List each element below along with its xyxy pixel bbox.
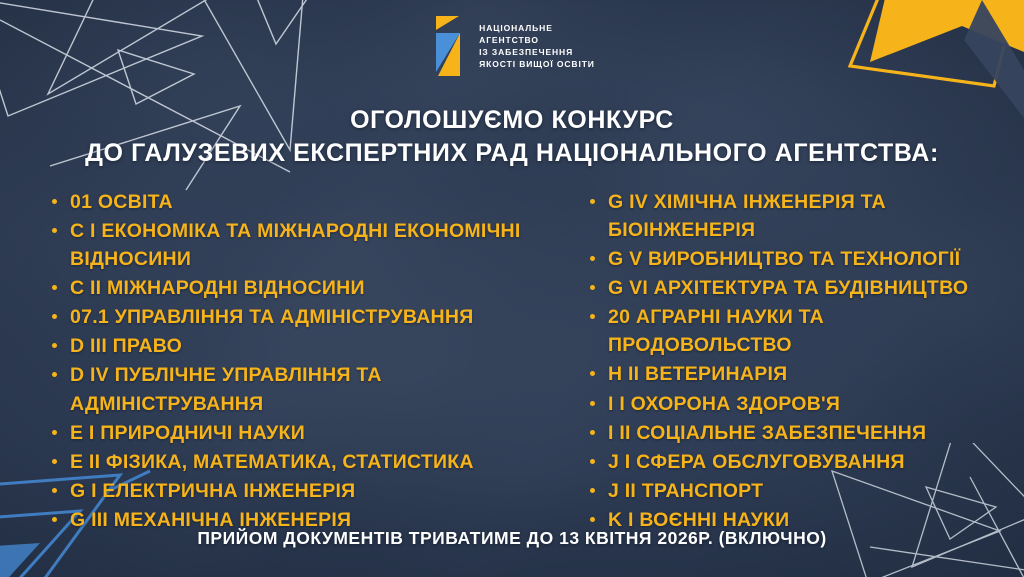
list-item-label: D IV ПУБЛІЧНЕ УПРАВЛІННЯ ТА АДМІНІСТРУВА…	[70, 364, 382, 414]
list-item: E II ФІЗИКА, МАТЕМАТИКА, СТАТИСТИКА	[48, 448, 548, 476]
list-item-label: 20 АГРАРНІ НАУКИ ТА ПРОДОВОЛЬСТВО	[608, 306, 824, 356]
list-item-label: C II МІЖНАРОДНІ ВІДНОСИНИ	[70, 277, 365, 299]
bullet-icon	[590, 371, 595, 376]
headline-line-2: ДО ГАЛУЗЕВИХ ЕКСПЕРТНИХ РАД НАЦІОНАЛЬНОГ…	[0, 137, 1024, 170]
list-item-label: G VI АРХІТЕКТУРА ТА БУДІВНИЦТВО	[608, 277, 968, 299]
list-item: I I ОХОРОНА ЗДОРОВ'Я	[586, 390, 1002, 418]
list-item: D III ПРАВО	[48, 332, 548, 360]
national-agency-logo-mark-icon	[429, 14, 469, 78]
list-item: E I ПРИРОДНИЧІ НАУКИ	[48, 419, 548, 447]
list-item: J I СФЕРА ОБСЛУГОВУВАННЯ	[586, 448, 1002, 476]
list-item-label: J II ТРАНСПОРТ	[608, 480, 763, 502]
bullet-icon	[590, 256, 595, 261]
bullet-icon	[52, 285, 57, 290]
logo-text-line-2: АГЕНТСТВО	[479, 35, 595, 45]
list-item-label: G IV ХІМІЧНА ІНЖЕНЕРІЯ ТА БІОІНЖЕНЕРІЯ	[608, 191, 886, 241]
list-item: G VI АРХІТЕКТУРА ТА БУДІВНИЦТВО	[586, 274, 1002, 302]
list-item-label: G I ЕЛЕКТРИЧНА ІНЖЕНЕРІЯ	[70, 480, 355, 502]
logo-text-block: НАЦІОНАЛЬНЕ АГЕНТСТВО ІЗ ЗАБЕЗПЕЧЕННЯ ЯК…	[479, 23, 595, 69]
list-item: 20 АГРАРНІ НАУКИ ТА ПРОДОВОЛЬСТВО	[586, 303, 1002, 359]
logo-text-line-1: НАЦІОНАЛЬНЕ	[479, 23, 595, 33]
bullet-icon	[52, 488, 57, 493]
bullet-icon	[590, 285, 595, 290]
logo-text-line-4: ЯКОСТІ ВИЩОЇ ОСВІТИ	[479, 59, 595, 69]
council-list-left: 01 ОСВІТА C I ЕКОНОМІКА ТА МІЖНАРОДНІ ЕК…	[48, 188, 548, 534]
council-column-left: 01 ОСВІТА C I ЕКОНОМІКА ТА МІЖНАРОДНІ ЕК…	[48, 188, 548, 535]
list-item-label: 01 ОСВІТА	[70, 191, 173, 213]
bullet-icon	[590, 199, 595, 204]
deadline-text: ПРИЙОМ ДОКУМЕНТІВ ТРИВАТИМЕ ДО 13 КВІТНЯ…	[197, 528, 826, 549]
bullet-icon	[52, 430, 57, 435]
bullet-icon	[52, 314, 57, 319]
list-item: 07.1 УПРАВЛІННЯ ТА АДМІНІСТРУВАННЯ	[48, 303, 548, 331]
list-item: I II СОЦІАЛЬНЕ ЗАБЕЗПЕЧЕННЯ	[586, 419, 1002, 447]
list-item-label: C I ЕКОНОМІКА ТА МІЖНАРОДНІ ЕКОНОМІЧНІ В…	[70, 220, 521, 270]
bullet-icon	[52, 372, 57, 377]
bullet-icon	[590, 401, 595, 406]
bullet-icon	[590, 488, 595, 493]
list-item-label: E II ФІЗИКА, МАТЕМАТИКА, СТАТИСТИКА	[70, 451, 474, 473]
list-item-label: H II ВЕТЕРИНАРІЯ	[608, 363, 787, 385]
list-item: G IV ХІМІЧНА ІНЖЕНЕРІЯ ТА БІОІНЖЕНЕРІЯ	[586, 188, 1002, 244]
list-item-label: I II СОЦІАЛЬНЕ ЗАБЕЗПЕЧЕННЯ	[608, 422, 926, 444]
bullet-icon	[52, 228, 57, 233]
list-item: J II ТРАНСПОРТ	[586, 477, 1002, 505]
council-list-right: G IV ХІМІЧНА ІНЖЕНЕРІЯ ТА БІОІНЖЕНЕРІЯ G…	[586, 188, 1002, 534]
list-item-label: I I ОХОРОНА ЗДОРОВ'Я	[608, 393, 840, 415]
list-item: C I ЕКОНОМІКА ТА МІЖНАРОДНІ ЕКОНОМІЧНІ В…	[48, 217, 548, 273]
council-column-right: G IV ХІМІЧНА ІНЖЕНЕРІЯ ТА БІОІНЖЕНЕРІЯ G…	[570, 188, 1002, 535]
list-item-label: E I ПРИРОДНИЧІ НАУКИ	[70, 422, 305, 444]
list-item: G I ЕЛЕКТРИЧНА ІНЖЕНЕРІЯ	[48, 477, 548, 505]
logo: НАЦІОНАЛЬНЕ АГЕНТСТВО ІЗ ЗАБЕЗПЕЧЕННЯ ЯК…	[0, 14, 1024, 78]
headline: ОГОЛОШУЄМО КОНКУРС ДО ГАЛУЗЕВИХ ЕКСПЕРТН…	[0, 104, 1024, 169]
list-item: H II ВЕТЕРИНАРІЯ	[586, 360, 1002, 388]
list-item-label: D III ПРАВО	[70, 335, 182, 357]
bullet-icon	[52, 517, 57, 522]
list-item: D IV ПУБЛІЧНЕ УПРАВЛІННЯ ТА АДМІНІСТРУВА…	[48, 361, 548, 417]
headline-line-1: ОГОЛОШУЄМО КОНКУРС	[0, 104, 1024, 137]
bullet-icon	[590, 314, 595, 319]
list-item: C II МІЖНАРОДНІ ВІДНОСИНИ	[48, 274, 548, 302]
list-item-label: J I СФЕРА ОБСЛУГОВУВАННЯ	[608, 451, 905, 473]
bullet-icon	[52, 199, 57, 204]
bullet-icon	[590, 517, 595, 522]
list-item: 01 ОСВІТА	[48, 188, 548, 216]
list-item-label: 07.1 УПРАВЛІННЯ ТА АДМІНІСТРУВАННЯ	[70, 306, 474, 328]
bullet-icon	[590, 430, 595, 435]
bullet-icon	[590, 459, 595, 464]
logo-text-line-3: ІЗ ЗАБЕЗПЕЧЕННЯ	[479, 47, 595, 57]
list-item: G V ВИРОБНИЦТВО ТА ТЕХНОЛОГІЇ	[586, 245, 1002, 273]
poster-canvas: НАЦІОНАЛЬНЕ АГЕНТСТВО ІЗ ЗАБЕЗПЕЧЕННЯ ЯК…	[0, 0, 1024, 577]
bullet-icon	[52, 343, 57, 348]
list-item-label: G V ВИРОБНИЦТВО ТА ТЕХНОЛОГІЇ	[608, 248, 960, 270]
bullet-icon	[52, 459, 57, 464]
footer: ПРИЙОМ ДОКУМЕНТІВ ТРИВАТИМЕ ДО 13 КВІТНЯ…	[0, 528, 1024, 549]
council-columns: 01 ОСВІТА C I ЕКОНОМІКА ТА МІЖНАРОДНІ ЕК…	[48, 188, 1002, 535]
